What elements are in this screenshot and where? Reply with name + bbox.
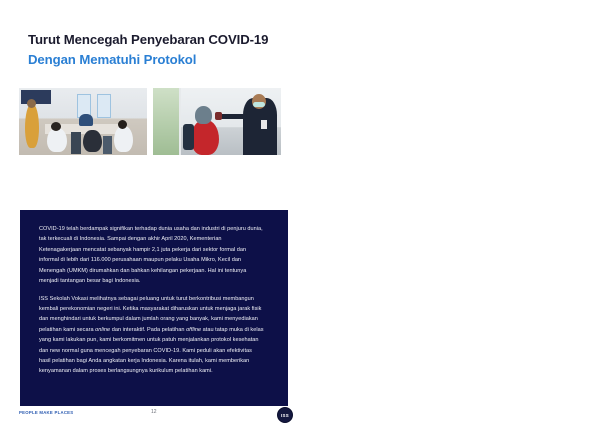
magazine-spread: Turut Mencegah Penyebaran COVID-19 Denga… bbox=[0, 0, 600, 428]
body-paragraph-2-part-2: dan interaktif. Pada pelatihan bbox=[110, 327, 186, 333]
body-paragraph-2-italic-online: online bbox=[95, 327, 110, 333]
photo-temperature-screening-at-entrance bbox=[153, 88, 281, 155]
right-page: Kami peduli akan efektivitas hasil pelat… bbox=[300, 0, 600, 428]
body-paragraph-2: ISS Sekolah Vokasi melihatnya sebagai pe… bbox=[39, 294, 264, 377]
body-paragraph-1: COVID-19 telah berdampak signifikan terh… bbox=[39, 224, 264, 287]
left-page-footer: PEOPLE MAKE PLACES 12 ISS bbox=[19, 408, 300, 424]
body-paragraph-2-part-3: atau tatap muka di kelas yang kami lakuk… bbox=[39, 327, 264, 375]
iss-logo-icon: ISS bbox=[277, 407, 293, 423]
footer-tagline: PEOPLE MAKE PLACES bbox=[19, 410, 73, 415]
page-title-line-2: Dengan Mematuhi Protokol bbox=[28, 51, 278, 68]
body-paragraph-2-italic-offline: offline bbox=[186, 327, 201, 333]
footer-page-number: 12 bbox=[151, 409, 157, 415]
photo-classroom-training-session bbox=[19, 88, 147, 155]
left-page-body-text: COVID-19 telah berdampak signifikan terh… bbox=[39, 224, 264, 384]
page-title: Turut Mencegah Penyebaran COVID-19 Denga… bbox=[28, 32, 278, 68]
page-title-line-1: Turut Mencegah Penyebaran COVID-19 bbox=[28, 32, 278, 49]
left-page: Turut Mencegah Penyebaran COVID-19 Denga… bbox=[0, 0, 300, 428]
left-page-body-panel: COVID-19 telah berdampak signifikan terh… bbox=[20, 210, 288, 406]
